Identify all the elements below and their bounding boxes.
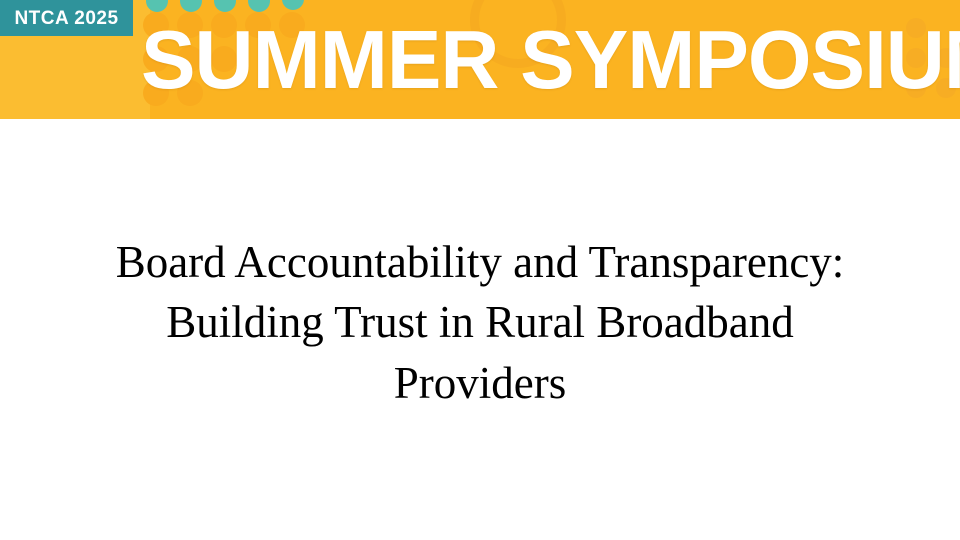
ntca-year-badge-label: NTCA 2025 <box>14 9 118 28</box>
slide-title-line-1: Board Accountability and Transparency: <box>40 232 920 292</box>
slide-title: Board Accountability and Transparency: B… <box>40 232 920 413</box>
ntca-year-badge: NTCA 2025 <box>0 0 133 36</box>
banner-headline-text: SUMMER SYMPOSIUM <box>141 22 960 98</box>
slide-title-line-3: Providers <box>40 353 920 413</box>
slide-title-line-2: Building Trust in Rural Broadband <box>40 292 920 352</box>
slide-banner: SUMMER SYMPOSIUM NTCA 2025 <box>0 0 960 119</box>
slide-body: Board Accountability and Transparency: B… <box>0 119 960 540</box>
banner-headline: SUMMER SYMPOSIUM <box>141 10 921 110</box>
presentation-slide: SUMMER SYMPOSIUM NTCA 2025 Board Account… <box>0 0 960 540</box>
